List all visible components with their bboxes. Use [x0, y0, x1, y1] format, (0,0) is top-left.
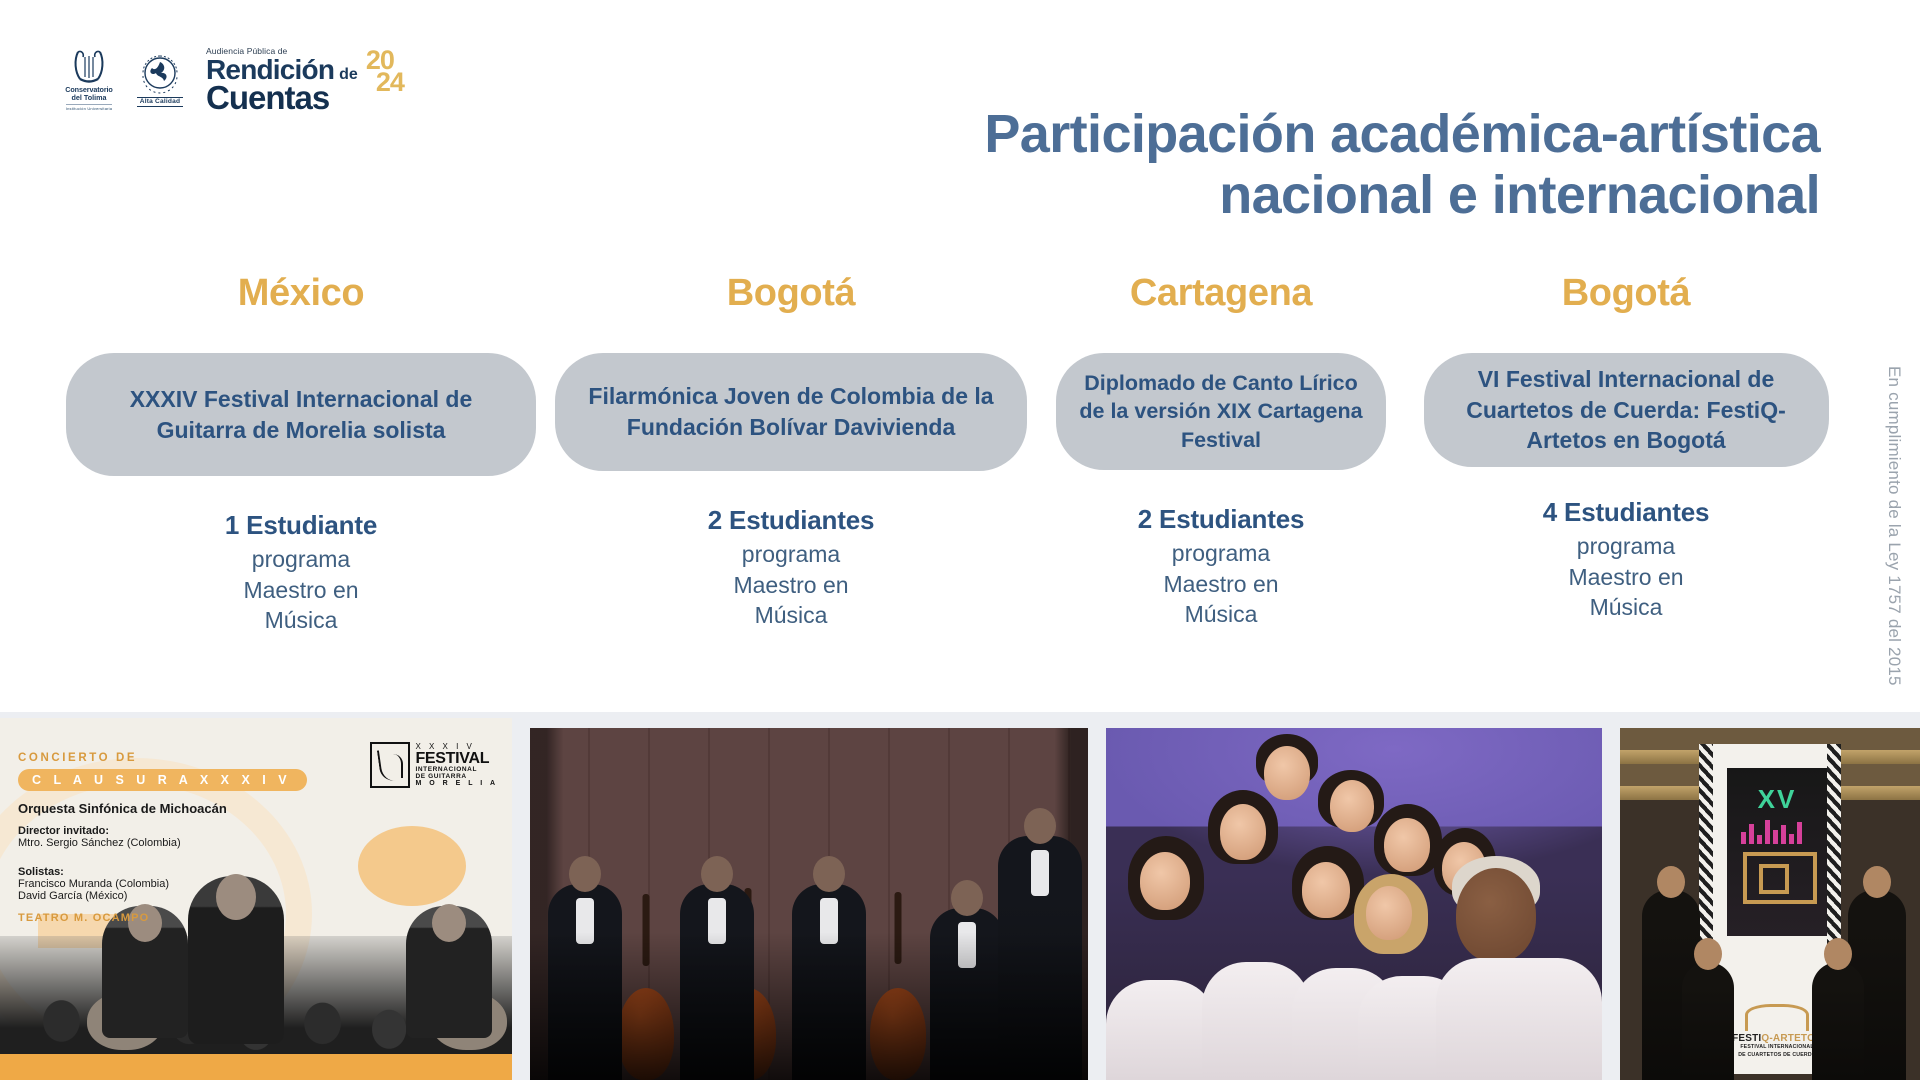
accreditation-label: Alta Calidad	[137, 97, 184, 107]
person-face	[1302, 862, 1350, 918]
poster-director-label: Director invitado:	[18, 825, 318, 837]
banner-title-part1: FESTI	[1732, 1033, 1761, 1044]
guitarist-left-figure	[102, 906, 188, 1038]
musician-figure	[548, 884, 622, 1080]
musician-figure	[680, 884, 754, 1080]
musician-figure	[792, 884, 866, 1080]
page-title: Participación académica-artística nacion…	[620, 104, 1820, 226]
participation-columns: México XXXIV Festival Internacional de G…	[56, 272, 1846, 636]
poster-footer-band	[0, 1054, 512, 1080]
rendicion-cuentas-logo: Audiencia Pública de Rendición de Cuenta…	[206, 46, 404, 113]
festival-logo-line2: FESTIVAL	[415, 751, 498, 767]
cello-instrument	[618, 894, 674, 1080]
guitar-mark-icon	[370, 742, 410, 788]
person-face	[1384, 818, 1430, 872]
rendicion-connector: de	[339, 67, 358, 83]
festival-guitarra-logo: X X X I V FESTIVAL INTERNACIONAL DE GUIT…	[370, 742, 498, 788]
lyre-icon	[72, 48, 106, 84]
column-mexico: México XXXIV Festival Internacional de G…	[56, 272, 546, 636]
event-card: Filarmónica Joven de Colombia de la Fund…	[555, 353, 1027, 471]
program-name: programa Maestro en Música	[1568, 531, 1683, 623]
festival-logo-line5: M O R E L I A	[415, 780, 498, 787]
cello-instrument	[870, 892, 926, 1080]
poster-soloist-1: Francisco Muranda (Colombia)	[18, 878, 318, 890]
poster-kicker: CONCIERTO DE	[18, 752, 318, 764]
poster-venue: TEATRO M. OCAMPO	[18, 912, 318, 924]
poster-soloists-label: Solistas:	[18, 866, 318, 878]
festival-logo-text: X X X I V FESTIVAL INTERNACIONAL DE GUIT…	[415, 743, 498, 788]
photo-festiq-artetos-banner: XV FESTIQ-ARTETOS FESTIVAL IN	[1620, 728, 1920, 1080]
photo-string-players-on-stage	[530, 728, 1088, 1080]
year-bottom: 24	[376, 71, 404, 93]
poster-canvas: CONCIERTO DE C L A U S U R A X X X I V O…	[0, 718, 512, 1080]
banner-scene: XV FESTIQ-ARTETOS FESTIVAL IN	[1620, 728, 1920, 1080]
poster-spacer	[18, 849, 318, 857]
program-name: programa Maestro en Música	[733, 539, 848, 631]
festival-logo-line4: DE GUITARRA	[415, 774, 498, 781]
city-heading: Cartagena	[1130, 272, 1312, 315]
student-count: 2 Estudiantes	[1138, 504, 1304, 535]
column-cartagena: Cartagena Diplomado de Canto Lírico de l…	[1036, 272, 1406, 630]
person-face	[1264, 746, 1310, 800]
photo-strip: CONCIERTO DE C L A U S U R A X X X I V O…	[0, 712, 1920, 1080]
person-figure	[1682, 962, 1734, 1080]
page-title-line2: nacional e internacional	[620, 165, 1820, 226]
person-face	[1330, 780, 1374, 832]
conservatorio-line3: Institución Universitaria	[66, 104, 112, 111]
rendicion-year: 20 24	[366, 49, 404, 93]
brand-logo-bar: Conservatorio del Tolima Institución Uni…	[58, 46, 404, 113]
event-card: XXXIV Festival Internacional de Guitarra…	[66, 353, 536, 476]
student-count: 2 Estudiantes	[708, 505, 874, 536]
column-bogota-filarmonica: Bogotá Filarmónica Joven de Colombia de …	[546, 272, 1036, 631]
event-card: VI Festival Internacional de Cuartetos d…	[1424, 353, 1829, 467]
accreditation-logo: Alta Calidad	[130, 52, 190, 107]
selfie-scene	[1106, 728, 1602, 1080]
accreditation-seal-icon	[137, 52, 183, 96]
slide-content-area: Conservatorio del Tolima Institución Uni…	[0, 0, 1920, 712]
person-face	[1366, 886, 1412, 940]
banner-equalizer-bars	[1741, 820, 1802, 844]
program-name: programa Maestro en Música	[1163, 538, 1278, 630]
white-tshirt	[1436, 958, 1602, 1080]
poster-text-block: CONCIERTO DE C L A U S U R A X X X I V O…	[18, 752, 318, 924]
photo-students-group-selfie	[1106, 728, 1602, 1080]
banner-geometric-glyph	[1743, 852, 1817, 904]
person-face	[1456, 868, 1536, 962]
column-bogota-festiq: Bogotá VI Festival Internacional de Cuar…	[1406, 272, 1846, 623]
rendicion-text: Audiencia Pública de Rendición de Cuenta…	[206, 46, 358, 113]
musician-figure	[930, 908, 1004, 1080]
legal-side-note: En cumplimiento de la Ley 1757 del 2015	[1884, 366, 1904, 686]
person-figure	[1812, 962, 1864, 1080]
person-face	[1140, 852, 1190, 910]
slide: Conservatorio del Tolima Institución Uni…	[0, 0, 1920, 1080]
city-heading: Bogotá	[1562, 272, 1690, 315]
photo-concert-poster-morelia: CONCIERTO DE C L A U S U R A X X X I V O…	[0, 718, 512, 1080]
page-title-line1: Participación académica-artística	[620, 104, 1820, 165]
student-count: 4 Estudiantes	[1543, 497, 1709, 528]
poster-orchestra-name: Orquesta Sinfónica de Michoacán	[18, 801, 318, 816]
white-tshirt	[1106, 980, 1216, 1080]
conservatorio-line2: del Tolima	[71, 94, 106, 102]
program-name: programa Maestro en Música	[243, 544, 358, 636]
person-face	[1220, 804, 1266, 860]
conservatorio-logo: Conservatorio del Tolima Institución Uni…	[58, 48, 120, 111]
stage-scene	[530, 728, 1088, 1080]
poster-director-value: Mtro. Sergio Sánchez (Colombia)	[18, 837, 318, 849]
student-count: 1 Estudiante	[225, 510, 377, 541]
city-heading: México	[238, 272, 364, 315]
poster-soloist-2: David García (México)	[18, 890, 318, 902]
banner-swirl-icon	[1745, 1004, 1809, 1031]
banner-roman-numeral: XV	[1758, 784, 1797, 815]
banner-artwork: XV	[1727, 768, 1827, 936]
poster-pill-label: C L A U S U R A X X X I V	[18, 769, 307, 791]
cuentas-word: Cuentas	[206, 82, 358, 113]
musician-figure-foreground	[998, 836, 1082, 1080]
poster-blob-decoration	[358, 826, 466, 906]
event-card: Diplomado de Canto Lírico de la versión …	[1056, 353, 1386, 470]
city-heading: Bogotá	[727, 272, 855, 315]
guitarist-right-figure	[406, 906, 492, 1038]
